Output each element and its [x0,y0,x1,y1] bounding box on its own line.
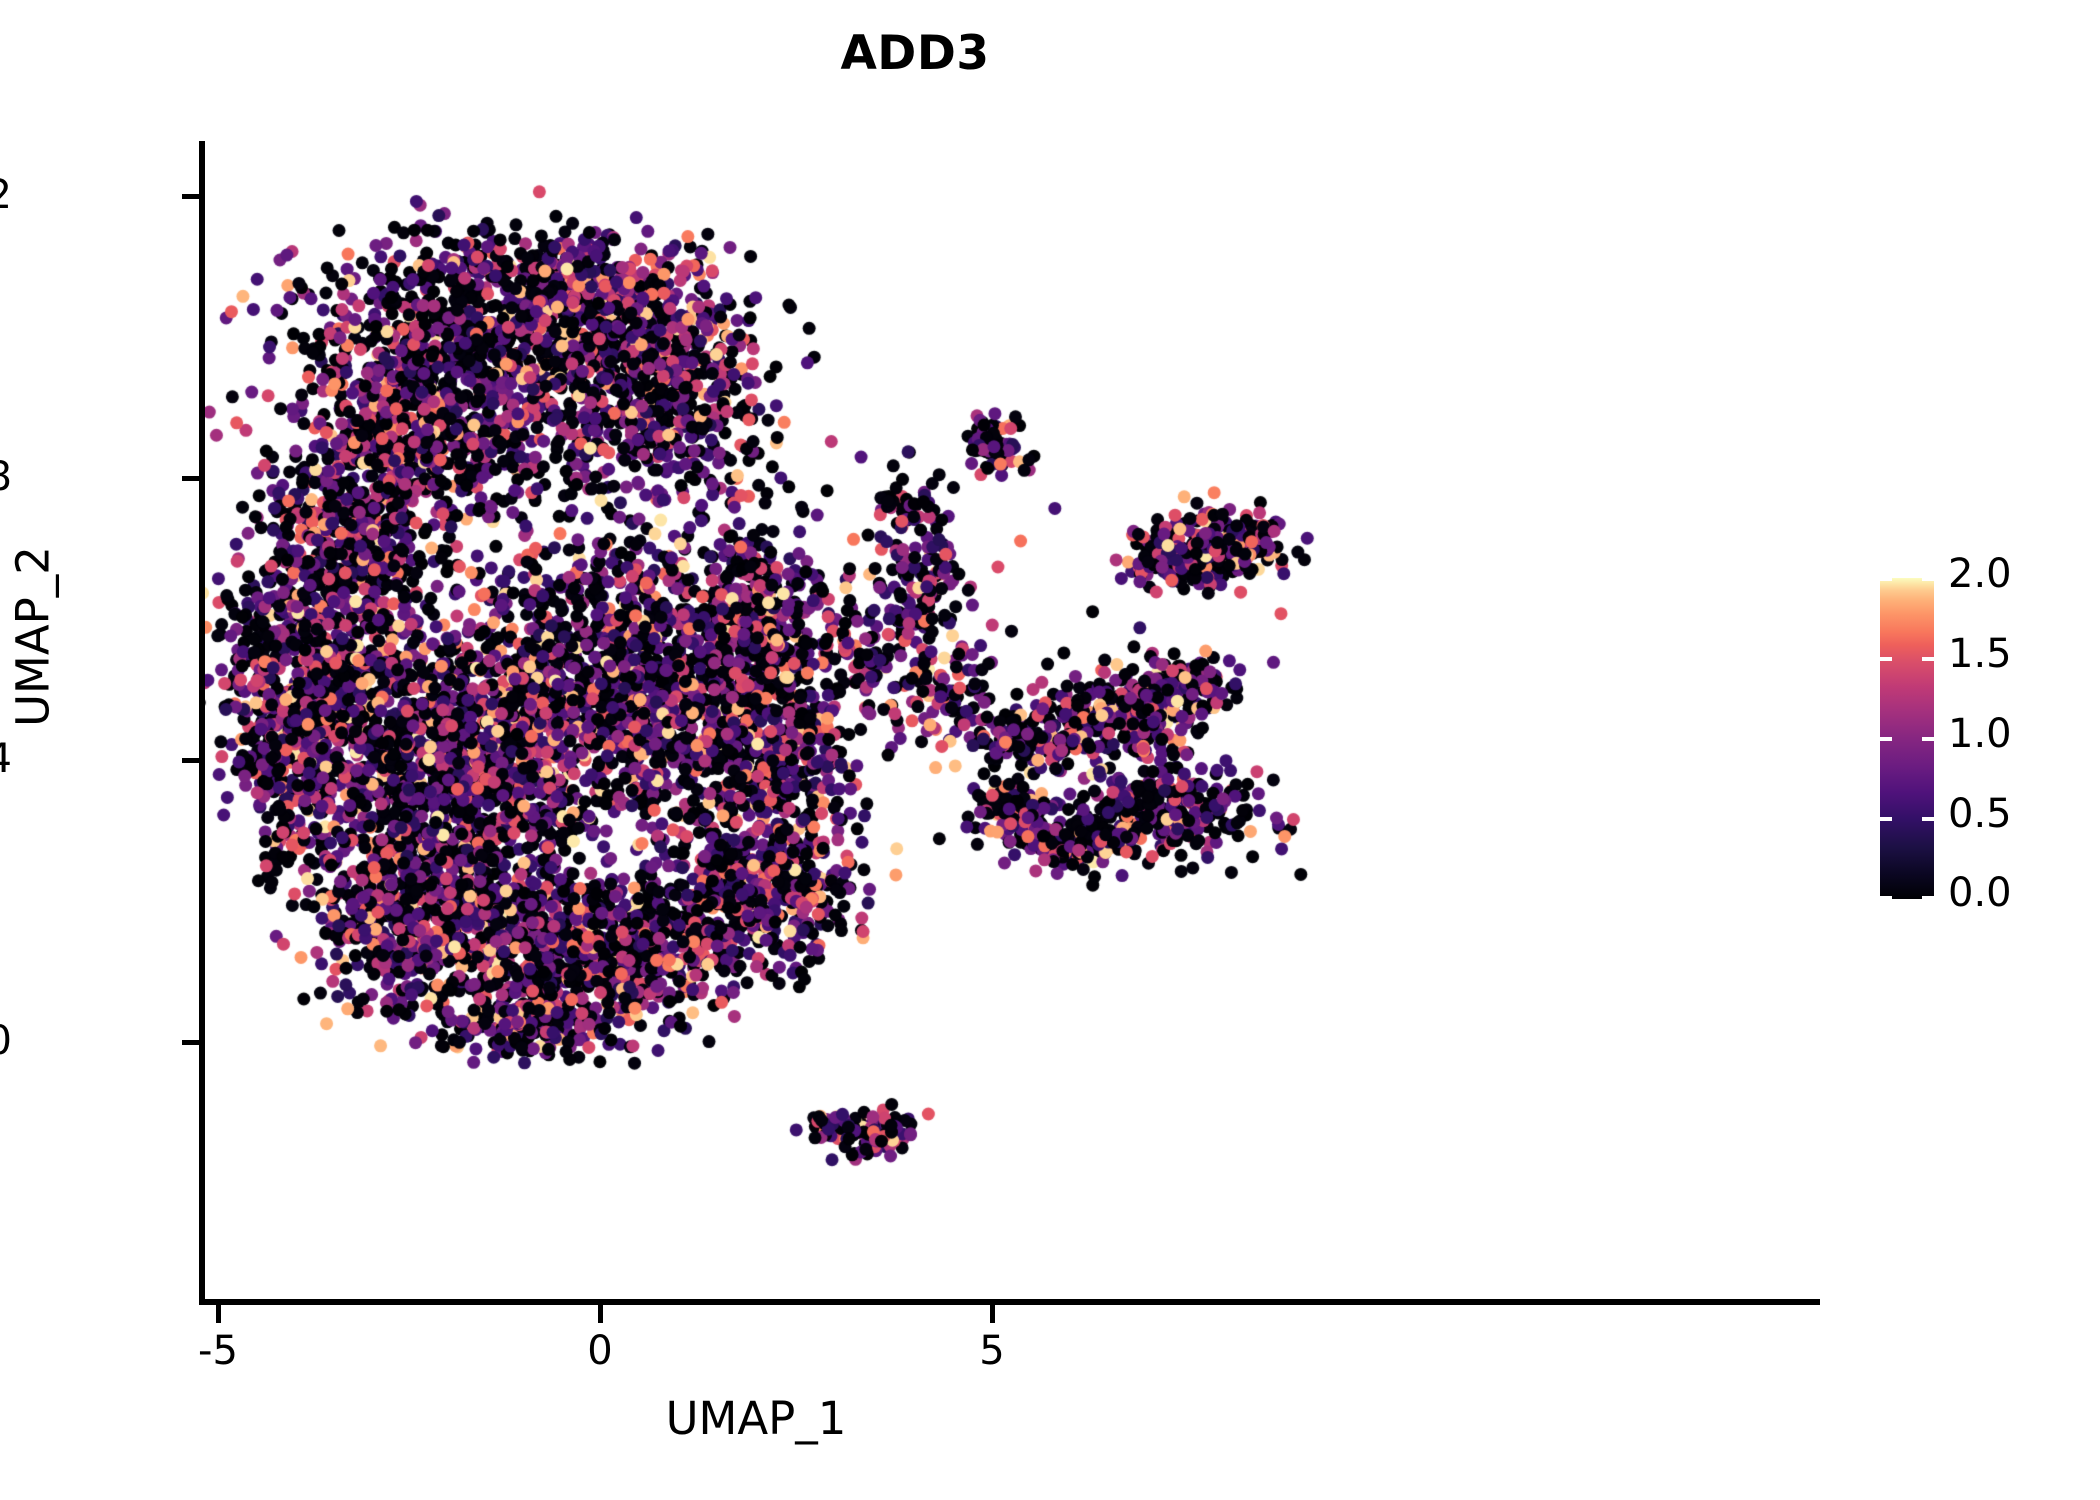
x-tick-mark [216,1305,221,1323]
plot-area [205,141,1820,1305]
x-axis-label: UMAP_1 [456,1392,1056,1445]
y-axis-label: UMAP_2 [7,367,60,907]
colorbar-label-1-0: 1.0 [1948,711,2100,757]
page-title: ADD3 [0,26,1830,81]
colorbar-tick [1922,817,1934,821]
y-tick-mark [182,758,200,763]
scatter-canvas [205,141,1820,1305]
y-tick-label-0: 0 [0,1018,12,1064]
colorbar-label-1-5: 1.5 [1948,631,2100,677]
y-tick-mark [182,194,200,199]
colorbar-tick [1880,577,1892,581]
x-tick-label-5: 5 [892,1328,1092,1374]
x-tick-mark [990,1305,995,1323]
x-axis-spine [199,1299,1820,1305]
colorbar-label-0-0: 0.0 [1948,870,2100,916]
colorbar-tick [1880,817,1892,821]
colorbar-tick [1922,896,1934,900]
colorbar-tick [1922,657,1934,661]
colorbar-tick [1880,896,1892,900]
colorbar: 2.0 1.5 1.0 0.5 0.0 [1880,578,1934,899]
x-tick-label-0: 0 [500,1328,700,1374]
colorbar-label-2-0: 2.0 [1948,551,2100,597]
y-tick-mark [182,1040,200,1045]
colorbar-tick [1922,577,1934,581]
y-tick-label-12: 12 [0,172,12,218]
colorbar-tick [1922,737,1934,741]
y-tick-mark [182,476,200,481]
colorbar-tick [1880,657,1892,661]
colorbar-tick [1880,737,1892,741]
chart-root: ADD3 0 4 8 12 -5 0 5 UMAP_2 UMAP_1 2.0 1… [0,0,2100,1500]
y-axis-spine [199,141,205,1305]
x-tick-mark [598,1305,603,1323]
colorbar-label-0-5: 0.5 [1948,791,2100,837]
x-tick-label-neg5: -5 [118,1328,318,1374]
